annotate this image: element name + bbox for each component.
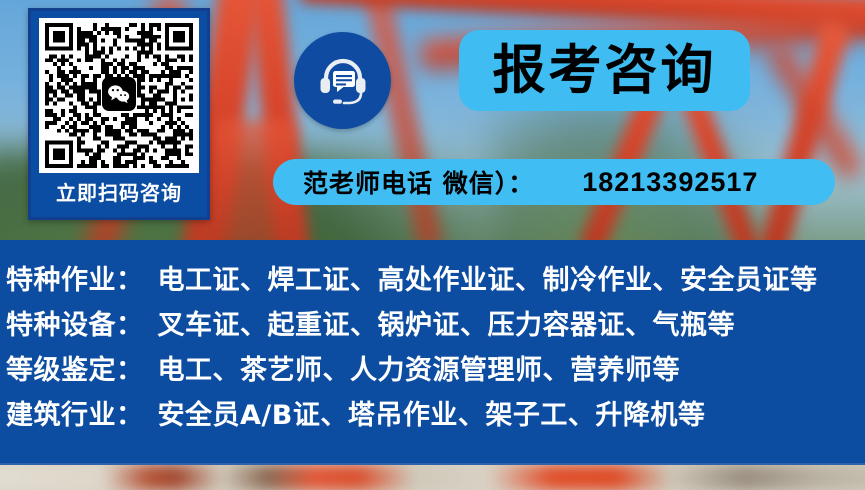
qr-scan-label: 立即扫码咨询: [31, 177, 207, 206]
category-label: 等级鉴定：: [6, 348, 144, 387]
bottom-photo-strip: [0, 465, 865, 490]
category-label: 建筑行业：: [6, 393, 144, 432]
category-label: 特种设备：: [6, 303, 144, 342]
contact-phone-pill[interactable]: 范老师电话 微信）： 18213392517: [273, 159, 835, 205]
wechat-icon: [102, 77, 136, 111]
bottom-photo-blur: [0, 465, 865, 490]
category-label: 特种作业：: [6, 258, 144, 297]
title-pill[interactable]: 报考咨询: [459, 30, 750, 111]
contact-phone-number[interactable]: 18213392517: [582, 167, 758, 198]
qr-card[interactable]: 立即扫码咨询: [28, 8, 210, 220]
list-item: 建筑行业： 安全员A/B证、塔吊作业、架子工、升降机等: [6, 393, 865, 438]
promo-poster: 立即扫码咨询 报考咨询 范老师电话 微信）： 18213392517: [0, 0, 865, 490]
category-items: 叉车证、起重证、锅炉证、压力容器证、气瓶等: [158, 303, 736, 342]
list-item: 等级鉴定： 电工、茶艺师、人力资源管理师、营养师等: [6, 348, 865, 393]
title-text: 报考咨询: [493, 44, 717, 97]
certificate-list-panel: 特种作业： 电工证、焊工证、高处作业证、制冷作业、安全员证等 特种设备： 叉车证…: [0, 240, 865, 465]
category-items: 电工、茶艺师、人力资源管理师、营养师等: [158, 348, 681, 387]
list-item: 特种作业： 电工证、焊工证、高处作业证、制冷作业、安全员证等: [6, 258, 865, 303]
list-item: 特种设备： 叉车证、起重证、锅炉证、压力容器证、气瓶等: [6, 303, 865, 348]
headset-support-icon: [294, 32, 391, 129]
contact-label: 范老师电话 微信）：: [303, 164, 534, 200]
qr-code-container[interactable]: [39, 18, 199, 173]
category-items: 安全员A/B证、塔吊作业、架子工、升降机等: [158, 393, 706, 432]
category-items: 电工证、焊工证、高处作业证、制冷作业、安全员证等: [158, 258, 818, 297]
